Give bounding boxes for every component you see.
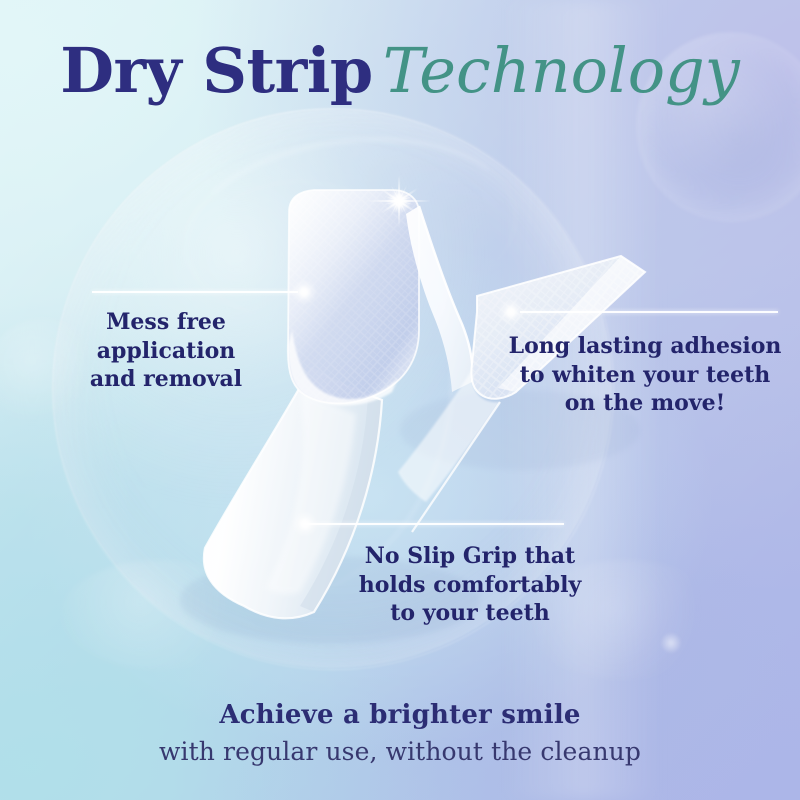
callout-line: Mess free: [46, 308, 286, 337]
leader-dot-long-lasting: [498, 299, 524, 325]
callout-line: to your teeth: [330, 599, 610, 628]
title-bold-text: Dry Strip: [60, 34, 373, 107]
footer-headline: Achieve a brighter smile: [0, 700, 800, 730]
leader-dot-mess-free: [291, 279, 317, 305]
callout-line: to whiten your teeth: [500, 361, 790, 390]
leader-line-mess-free: [92, 291, 298, 293]
callout-line: and removal: [46, 365, 286, 394]
footer-subline: with regular use, without the cleanup: [0, 737, 800, 766]
leader-line-no-slip-grip: [306, 523, 564, 525]
callout-no-slip-grip: No Slip Grip that holds comfortably to y…: [330, 542, 610, 628]
poster-canvas: Dry StripTechnology Mess free applicatio…: [0, 0, 800, 800]
callout-line: holds comfortably: [330, 571, 610, 600]
page-title: Dry StripTechnology: [0, 40, 800, 102]
callout-line: on the move!: [500, 389, 790, 418]
callout-line: Long lasting adhesion: [500, 332, 790, 361]
title-italic-text: Technology: [383, 34, 740, 107]
callout-mess-free: Mess free application and removal: [46, 308, 286, 394]
leader-dot-no-slip-grip: [292, 511, 318, 537]
callout-line: No Slip Grip that: [330, 542, 610, 571]
leader-line-long-lasting: [520, 311, 778, 313]
callout-long-lasting: Long lasting adhesion to whiten your tee…: [500, 332, 790, 418]
callout-line: application: [46, 337, 286, 366]
